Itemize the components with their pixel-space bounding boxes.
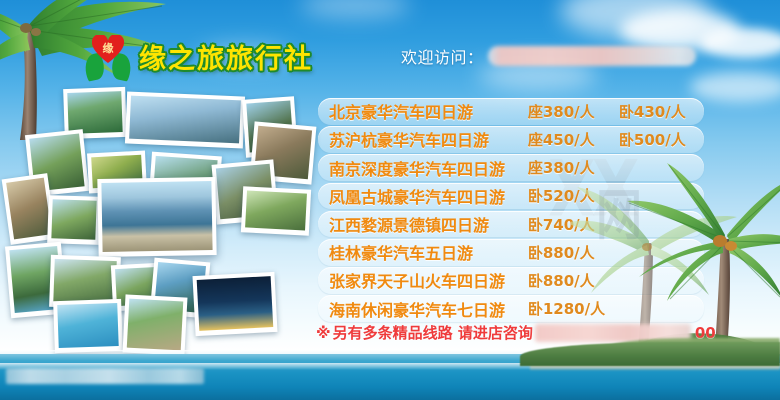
logo-glyph: 缘 [92,38,124,60]
price-row-destination: 张家界天子山火车四日游 [318,268,528,292]
welcome-value-redacted [488,46,696,66]
heart-hands-logo-icon: 缘 [83,31,133,81]
advertisement-banner: 缘 缘之旅旅行社 欢迎访问： XX [0,0,780,400]
brand-name: 缘之旅旅行社 [139,37,313,76]
price-row[interactable]: 北京豪华汽车四日游 座380/人 卧430/人 [318,98,704,125]
watermark-secondary: 网 [596,171,639,250]
photo-collage [2,92,322,362]
price-row-destination: 南京深度豪华汽车四日游 [318,156,528,180]
price-row-destination: 凤凰古城豪华汽车四日游 [318,184,528,208]
collage-photo [47,195,101,245]
collage-photo [241,186,311,235]
price-row-destination: 苏沪杭豪华汽车四日游 [318,127,528,151]
welcome-label: 欢迎访问： [401,44,484,68]
price-row-berth: 卧500/人 [619,129,704,150]
price-row-seat: 座380/人 [528,101,619,122]
price-row-destination: 江西婺源景德镇四日游 [318,212,528,236]
note-marker: ※ [316,324,331,342]
welcome-bar: 欢迎访问： [401,44,696,68]
collage-photo [53,299,123,353]
collage-photo [125,91,245,148]
footer-text-redacted [6,368,204,384]
price-row[interactable]: 苏沪杭豪华汽车四日游 座450/人 卧500/人 [318,126,704,153]
collage-photo [192,272,277,336]
brand-logo: 缘 缘之旅旅行社 [83,30,313,82]
price-row-seat: 座450/人 [528,129,619,150]
note-text: 另有多条精品线路 请进店咨询 [333,322,533,343]
price-row-destination: 北京豪华汽车四日游 [318,99,528,123]
price-row-berth: 卧430/人 [619,101,704,122]
cloud [700,28,780,58]
price-row-destination: 桂林豪华汽车五日游 [318,240,528,264]
collage-photo [123,294,188,355]
collage-photo-featured [97,177,216,257]
price-row-destination: 海南休闲豪华汽车七日游 [318,297,528,321]
